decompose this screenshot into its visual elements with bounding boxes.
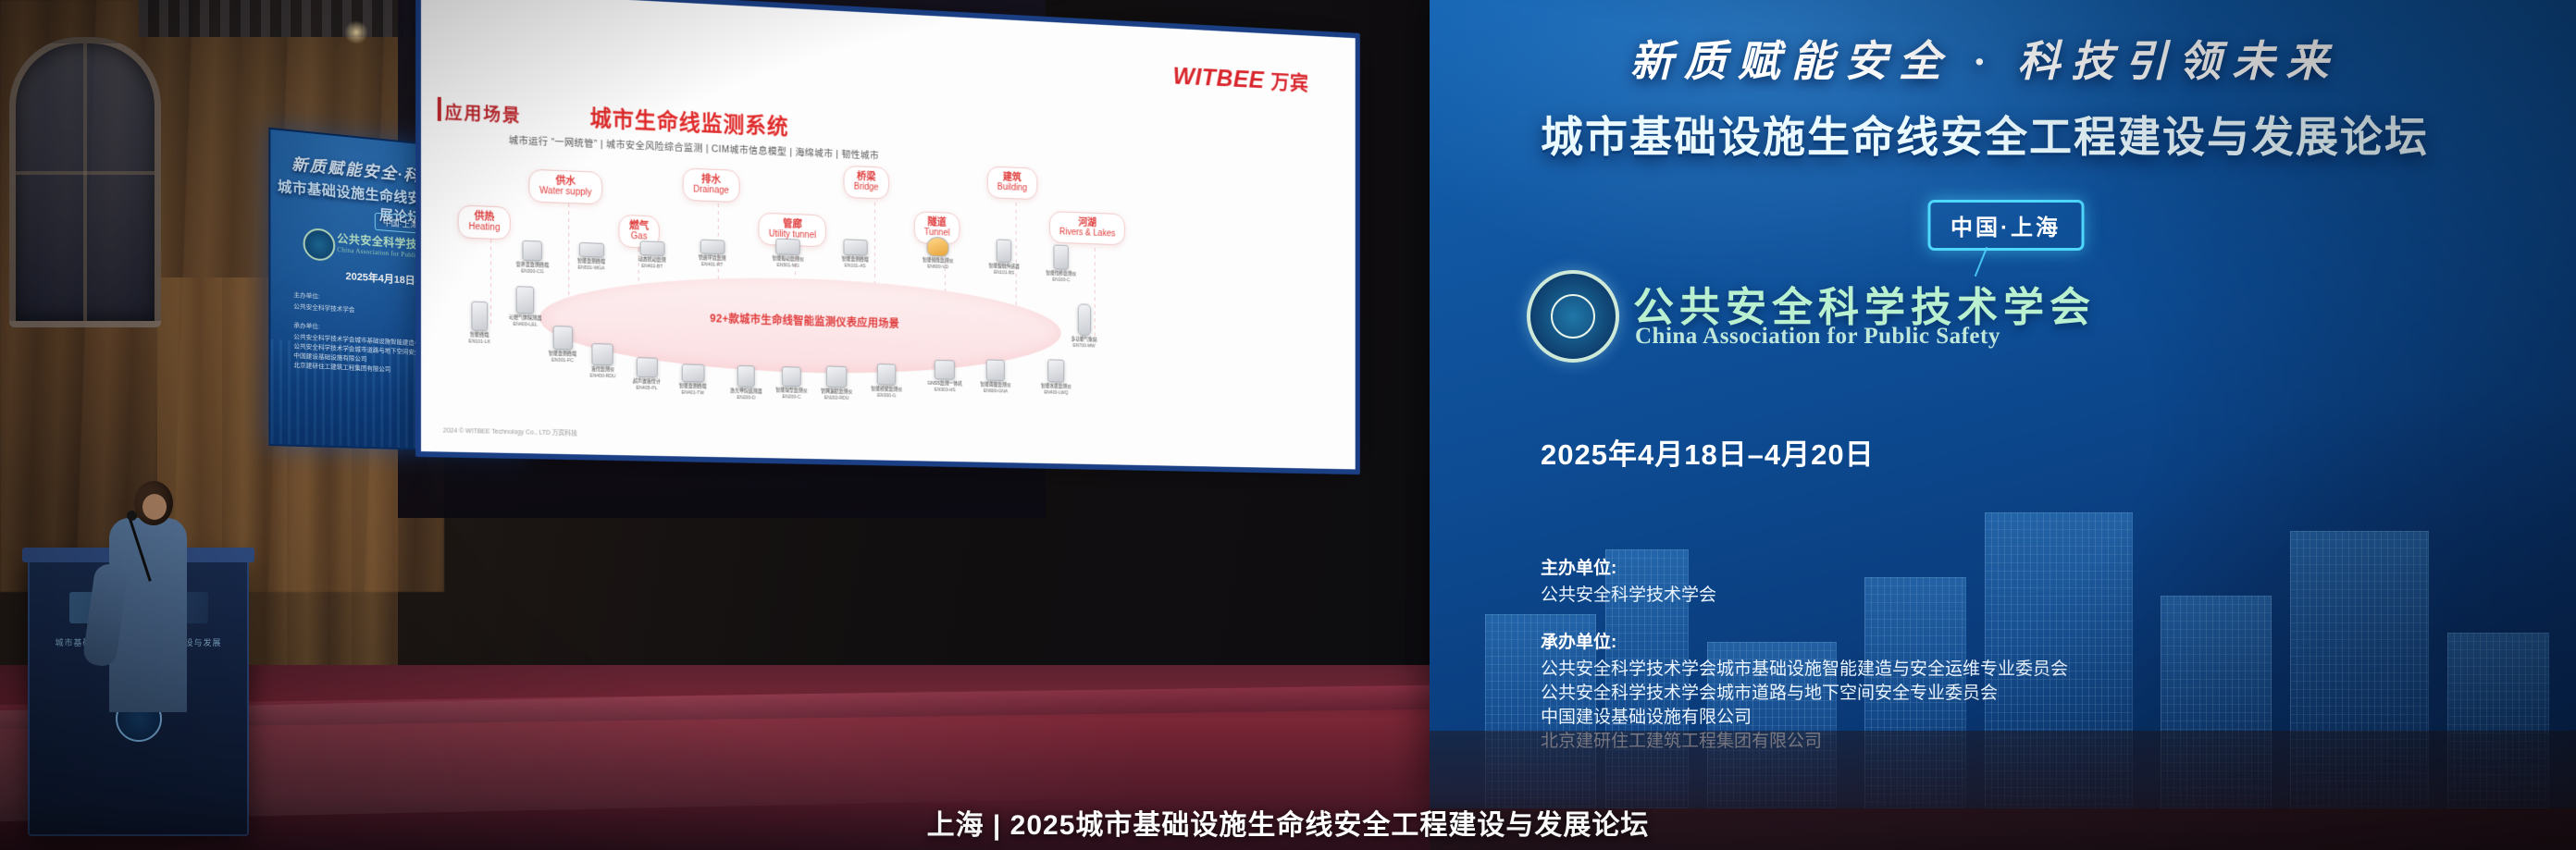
led-host-label: 主办单位:: [1541, 557, 1716, 581]
caption-text: 上海 | 2025城市基础设施生命线安全工程建设与发展论坛: [0, 802, 2576, 843]
led-organization-en: China Association for Public Safety: [1635, 324, 2449, 350]
led-forum-title: 城市基础设施生命线安全工程建设与发展论坛: [1448, 104, 2521, 165]
caption-bar: 上海 | 2025城市基础设施生命线安全工程建设与发展论坛: [0, 795, 2576, 850]
microphone-head-icon: [127, 511, 137, 521]
led-undertaker-item: 公共安全科学技术学会城市道路与地下空间安全专业委员会: [1541, 682, 2068, 706]
screenshot-root: 城市基础设施生命线安全工程建设与发展论坛 新质赋能安全·科技引领未来 城市基础设…: [0, 0, 2576, 850]
led-undertaker-label: 承办单位:: [1541, 631, 2068, 655]
led-event-date: 2025年4月18日–4月20日: [1541, 431, 1875, 473]
led-undertaker-item: 中国建设基础设施有限公司: [1541, 706, 2068, 730]
screen-bezel: [415, 0, 1360, 474]
main-led-wall: 新质赋能安全 · 科技引领未来 城市基础设施生命线安全工程建设与发展论坛 中国·…: [1430, 0, 2576, 808]
led-host-block: 主办单位: 公共安全科学技术学会: [1541, 557, 1716, 608]
led-undertaker-item: 公共安全科学技术学会城市基础设施智能建造与安全运维专业委员会: [1541, 658, 2068, 682]
speaker-face: [142, 494, 167, 520]
projection-screen: WITBEE万宾 应用场景 城市生命线监测系统 城市运行 “一网统管” | 城市…: [421, 0, 1356, 469]
spot-light-icon: [344, 20, 368, 44]
led-script-headline: 新质赋能安全 · 科技引领未来: [1485, 28, 2484, 89]
association-emblem-icon: [1527, 270, 1619, 363]
arched-window: [9, 37, 161, 327]
led-location-chip: 中国·上海: [1927, 200, 2084, 251]
led-host-item: 公共安全科学技术学会: [1541, 584, 1716, 608]
